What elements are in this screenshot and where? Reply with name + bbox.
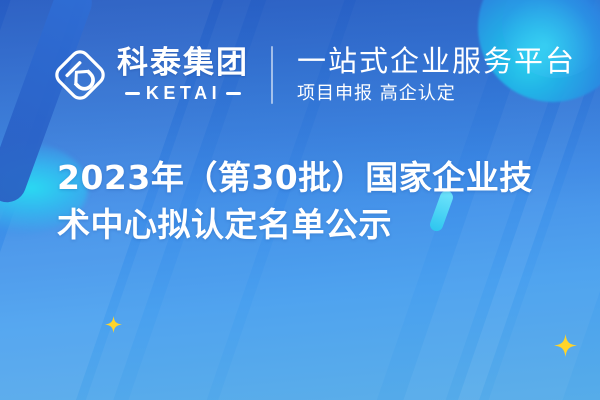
tagline-secondary: 项目申报 高企认定 [297,84,576,104]
logo-name-en: KETAI [146,84,221,102]
sparkle-star-icon [105,316,122,333]
sparkle-star-icon [554,334,577,357]
tagline-primary: 一站式企业服务平台 [297,46,576,78]
ketai-diamond-monogram-icon [52,47,108,103]
tagline-block: 一站式企业服务平台 项目申报 高企认定 [297,46,576,104]
logo-name-cn: 科泰集团 [117,48,249,79]
logo-dash-left-icon [125,92,140,95]
logo-name-en-row: KETAI [117,84,249,102]
vertical-divider-icon [271,46,273,104]
banner-header: 科泰集团 KETAI 一站式企业服务平台 项目申报 高企认定 [0,36,600,114]
logo-wordmark: 科泰集团 KETAI [117,48,249,102]
logo-dash-right-icon [226,92,241,95]
promo-banner: 科泰集团 KETAI 一站式企业服务平台 项目申报 高企认定 2023年（第30… [0,0,600,400]
page-title: 2023年（第30批）国家企业技术中心拟认定名单公示 [57,155,557,249]
